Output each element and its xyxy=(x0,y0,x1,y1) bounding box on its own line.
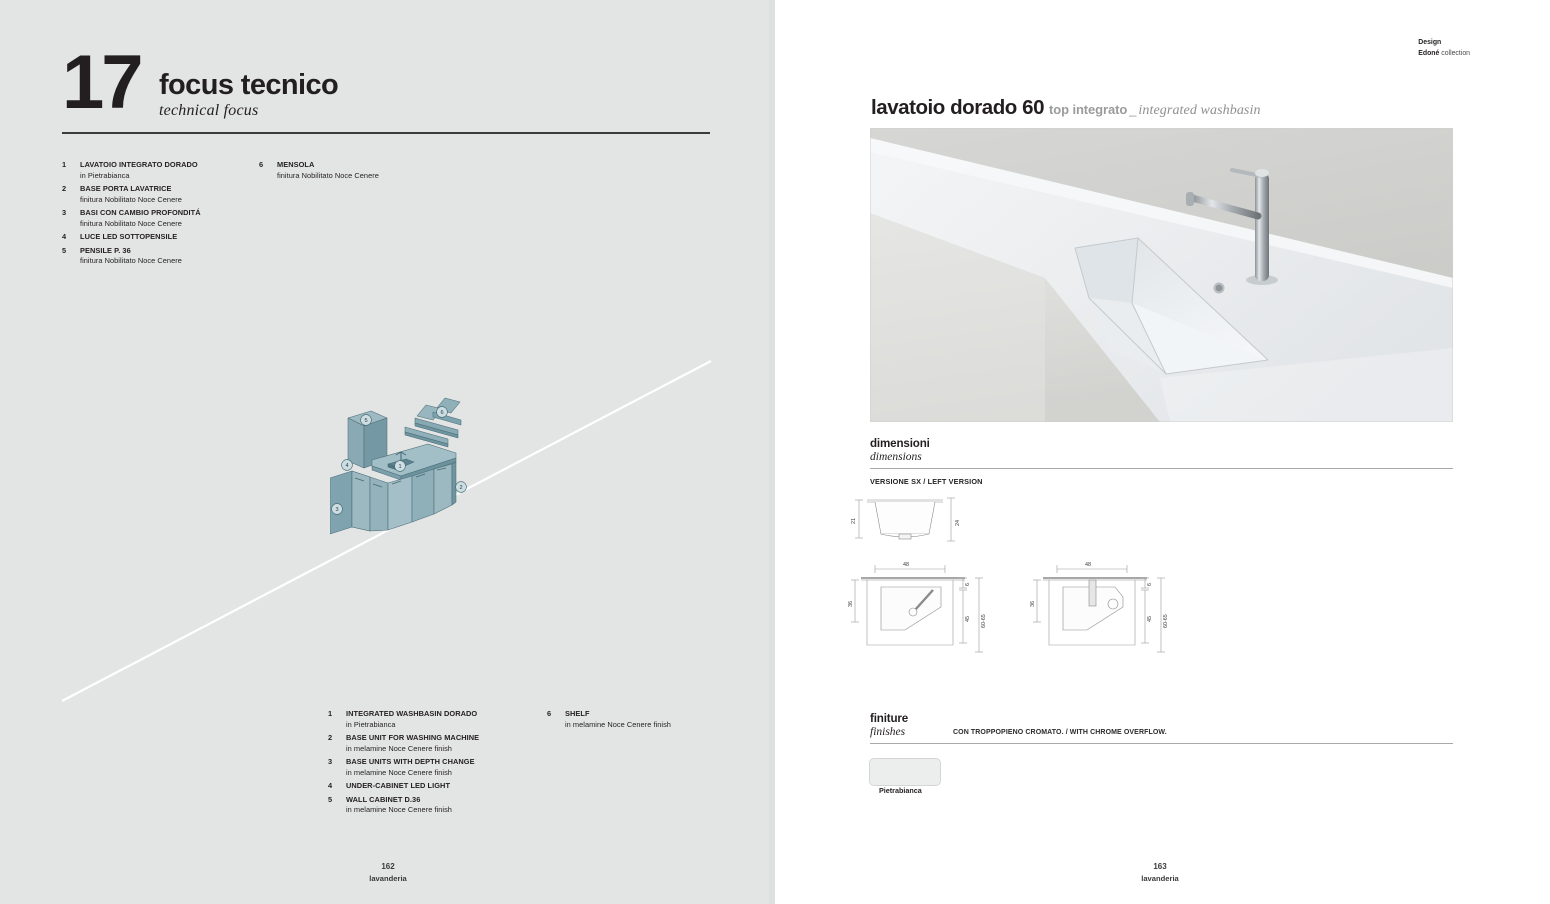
legend-title: LUCE LED SOTTOPENSILE xyxy=(80,232,201,243)
legend-title: UNDER-CABINET LED LIGHT xyxy=(346,781,479,792)
legend-title: MENSOLA xyxy=(277,160,379,171)
drawing-section-view: 21 24 xyxy=(851,498,961,541)
chapter-number: 17 xyxy=(62,52,141,114)
legend-description: finitura Nobilitato Noce Cenere xyxy=(80,195,201,206)
legend-description: finitura Nobilitato Noce Cenere xyxy=(80,256,201,267)
iso-shelf-6 xyxy=(405,398,461,447)
legend-number: 1 xyxy=(328,709,332,720)
dimensions-divider-rule xyxy=(870,468,1453,469)
dim-plan-right-mid-right: 45 xyxy=(1147,616,1153,622)
dim-section-left: 21 xyxy=(851,518,857,524)
legend-title: INTEGRATED WASHBASIN DORADO xyxy=(346,709,479,720)
legend-title: PENSILE P. 36 xyxy=(80,246,201,257)
right-page-number: 163 xyxy=(1112,861,1208,873)
finish-swatch-label: Pietrabianca xyxy=(879,786,922,795)
chapter-title-english: technical focus xyxy=(159,102,338,120)
legend-description: in melamine Noce Cenere finish xyxy=(346,768,479,779)
left-page-section: lavanderia xyxy=(340,873,436,884)
list-item: 4 UNDER-CABINET LED LIGHT xyxy=(328,781,479,792)
legend-description: in Pietrabianca xyxy=(346,720,479,731)
svg-text:3: 3 xyxy=(335,507,338,513)
dim-section-right: 24 xyxy=(955,520,961,526)
finishes-heading-english: finishes xyxy=(870,726,908,740)
svg-text:2: 2 xyxy=(459,485,462,491)
finishes-divider-rule xyxy=(870,743,1453,744)
finishes-note: CON TROPPOPIENO CROMATO. / WITH CHROME O… xyxy=(953,729,1167,736)
list-item: 4 LUCE LED SOTTOPENSILE xyxy=(62,232,201,243)
chapter-title-text: focus tecnico technical focus xyxy=(159,70,338,120)
dim-plan-left-right: 36 xyxy=(1030,601,1036,607)
svg-text:6: 6 xyxy=(440,410,443,416)
legend-italian-column-1: 1 LAVATOIO INTEGRATO DORADO in Pietrabia… xyxy=(62,160,201,270)
list-item: 2 BASE UNIT FOR WASHING MACHINE in melam… xyxy=(328,733,479,754)
legend-number: 3 xyxy=(328,757,332,768)
legend-italian-column-2: 6 MENSOLA finitura Nobilitato Noce Cener… xyxy=(259,160,379,184)
legend-title: BASI CON CAMBIO PROFONDITÁ xyxy=(80,208,201,219)
legend-number: 5 xyxy=(62,246,66,257)
svg-text:5: 5 xyxy=(364,418,367,424)
product-subtitle-separator: _ xyxy=(1129,102,1136,117)
legend-english-column-2: 6 SHELF in melamine Noce Cenere finish xyxy=(547,709,671,733)
dimensions-heading: dimensioni dimensions xyxy=(870,437,930,464)
legend-description: finitura Nobilitato Noce Cenere xyxy=(277,171,379,182)
product-subtitle-italian: top integrato xyxy=(1049,102,1127,117)
dim-plan-right-small-right: 6 xyxy=(1147,583,1153,586)
legend-description: in melamine Noce Cenere finish xyxy=(346,805,479,816)
dim-plan-right-total-right: 60-65 xyxy=(1163,614,1169,628)
title-divider-rule xyxy=(62,132,710,134)
legend-number: 6 xyxy=(259,160,263,171)
legend-number: 5 xyxy=(328,795,332,806)
legend-description: finitura Nobilitato Noce Cenere xyxy=(80,219,201,230)
chapter-title-italian: focus tecnico xyxy=(159,70,338,100)
design-credit-label: Design xyxy=(1418,38,1470,49)
dim-plan-top-right: 48 xyxy=(1085,562,1091,568)
dim-plan-right-total-left: 60-65 xyxy=(981,614,987,628)
version-label: VERSIONE SX / LEFT VERSION xyxy=(870,477,983,486)
legend-number: 6 xyxy=(547,709,551,720)
product-photo xyxy=(870,128,1453,422)
list-item: 3 BASI CON CAMBIO PROFONDITÁ finitura No… xyxy=(62,208,201,229)
isometric-furniture-illustration: 1 2 3 4 5 6 xyxy=(330,392,500,572)
right-page-footer: 163 lavanderia xyxy=(1112,861,1208,884)
list-item: 1 LAVATOIO INTEGRATO DORADO in Pietrabia… xyxy=(62,160,201,181)
legend-number: 2 xyxy=(328,733,332,744)
drawing-plan-view-left: 48 36 6 45 60-65 xyxy=(848,562,987,652)
right-page-section: lavanderia xyxy=(1112,873,1208,884)
dim-plan-right-small-left: 6 xyxy=(965,583,971,586)
legend-number: 1 xyxy=(62,160,66,171)
list-item: 6 SHELF in melamine Noce Cenere finish xyxy=(547,709,671,730)
legend-number: 4 xyxy=(62,232,66,243)
legend-title: WALL CABINET D.36 xyxy=(346,795,479,806)
list-item: 3 BASE UNITS WITH DEPTH CHANGE in melami… xyxy=(328,757,479,778)
legend-title: BASE UNIT FOR WASHING MACHINE xyxy=(346,733,479,744)
finishes-heading-italian: finiture xyxy=(870,712,908,726)
finishes-heading: finiture finishes xyxy=(870,712,908,739)
product-subtitle-english: integrated washbasin xyxy=(1138,103,1260,118)
legend-description: in melamine Noce Cenere finish xyxy=(565,720,671,731)
legend-description: in Pietrabianca xyxy=(80,171,201,182)
legend-title: BASE UNITS WITH DEPTH CHANGE xyxy=(346,757,479,768)
legend-number: 3 xyxy=(62,208,66,219)
left-page: 17 focus tecnico technical focus 1 LAVAT… xyxy=(0,0,775,904)
dim-plan-right-mid-left: 45 xyxy=(965,616,971,622)
dim-plan-top-left: 48 xyxy=(903,562,909,568)
svg-text:4: 4 xyxy=(345,463,348,469)
chapter-title-block: 17 focus tecnico technical focus xyxy=(62,52,712,120)
legend-english-column-1: 1 INTEGRATED WASHBASIN DORADO in Pietrab… xyxy=(328,709,479,819)
left-page-number: 162 xyxy=(340,861,436,873)
dim-plan-left-left: 36 xyxy=(848,601,854,607)
list-item: 5 WALL CABINET D.36 in melamine Noce Cen… xyxy=(328,795,479,816)
design-credit: Design Edoné collection xyxy=(1418,38,1470,59)
dimensions-heading-italian: dimensioni xyxy=(870,437,930,451)
product-name: lavatoio dorado 60 xyxy=(871,96,1044,119)
legend-title: LAVATOIO INTEGRATO DORADO xyxy=(80,160,201,171)
finish-swatch-pietrabianca[interactable] xyxy=(869,758,941,786)
drawing-plan-view-right: 48 36 6 45 60-65 xyxy=(1030,562,1169,652)
list-item: 6 MENSOLA finitura Nobilitato Noce Cener… xyxy=(259,160,379,181)
list-item: 2 BASE PORTA LAVATRICE finitura Nobilita… xyxy=(62,184,201,205)
technical-dimension-drawings: 21 24 xyxy=(845,488,1185,668)
legend-number: 2 xyxy=(62,184,66,195)
dimensions-heading-english: dimensions xyxy=(870,451,930,465)
legend-description: in melamine Noce Cenere finish xyxy=(346,744,479,755)
design-brand-name: Edoné xyxy=(1418,50,1439,57)
page-title: lavatoio dorado 60top integrato_integrat… xyxy=(871,96,1261,120)
svg-text:1: 1 xyxy=(398,464,401,470)
legend-title: SHELF xyxy=(565,709,671,720)
list-item: 5 PENSILE P. 36 finitura Nobilitato Noce… xyxy=(62,246,201,267)
list-item: 1 INTEGRATED WASHBASIN DORADO in Pietrab… xyxy=(328,709,479,730)
legend-number: 4 xyxy=(328,781,332,792)
legend-title: BASE PORTA LAVATRICE xyxy=(80,184,201,195)
left-page-footer: 162 lavanderia xyxy=(340,861,436,884)
design-collection-label: collection xyxy=(1441,50,1470,57)
